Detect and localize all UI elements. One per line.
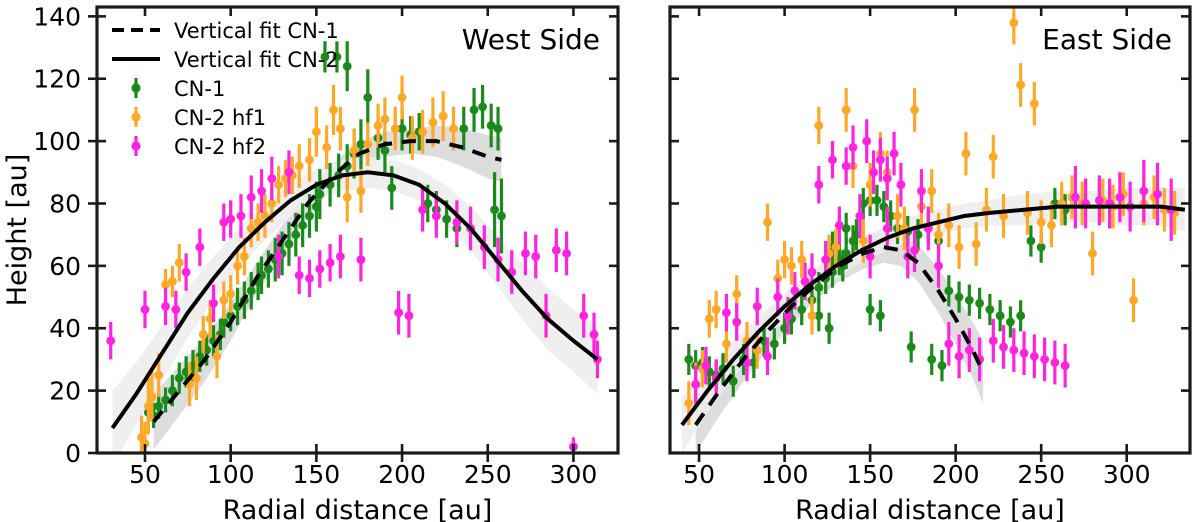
data-point <box>890 149 899 158</box>
data-point <box>363 93 372 102</box>
data-point <box>975 299 984 308</box>
data-point <box>590 330 599 339</box>
data-point <box>1009 346 1018 355</box>
data-point <box>161 302 170 311</box>
data-point <box>1129 296 1138 305</box>
data-point <box>910 246 919 255</box>
data-point <box>405 311 414 320</box>
y-tick-label: 0 <box>65 439 81 468</box>
data-point <box>274 180 283 189</box>
data-point <box>808 268 817 277</box>
data-point <box>1009 18 1018 27</box>
data-point <box>705 314 714 323</box>
x-tick-label: 100 <box>761 460 809 489</box>
data-point <box>1016 311 1025 320</box>
panel-title-west: West Side <box>462 23 600 56</box>
data-point <box>999 343 1008 352</box>
data-point <box>1115 193 1124 202</box>
data-point <box>387 183 396 192</box>
legend-item-vertical-fit-cn-2[interactable]: Vertical fit CN-2 <box>112 48 339 72</box>
data-point <box>897 180 906 189</box>
data-point <box>842 106 851 115</box>
data-point <box>182 268 191 277</box>
data-point <box>962 149 971 158</box>
data-point <box>267 174 276 183</box>
data-point <box>965 296 974 305</box>
legend-marker-icon <box>131 83 140 92</box>
data-point <box>702 361 711 370</box>
data-point <box>1027 237 1036 246</box>
data-point <box>295 162 304 171</box>
panel-content <box>106 41 602 465</box>
data-point <box>1037 243 1046 252</box>
data-point <box>305 212 314 221</box>
y-tick-label: 100 <box>33 127 81 156</box>
data-point <box>226 290 235 299</box>
panel-west: 50100150200250300020406080100120140Radia… <box>33 2 618 522</box>
data-point <box>274 252 283 261</box>
data-point <box>814 121 823 130</box>
data-point <box>442 215 451 224</box>
data-point <box>770 339 779 348</box>
data-point <box>927 355 936 364</box>
confidence-band-cn2 <box>112 157 597 466</box>
x-tick-label: 300 <box>550 460 598 489</box>
y-tick-label: 20 <box>49 377 81 406</box>
data-point <box>712 305 721 314</box>
data-point <box>849 143 858 152</box>
data-point <box>315 265 324 274</box>
data-point <box>381 115 390 124</box>
chart-svg: 50100150200250300020406080100120140Radia… <box>0 0 1200 522</box>
data-point <box>168 277 177 286</box>
data-point <box>257 187 266 196</box>
data-point <box>291 230 300 239</box>
data-point <box>391 124 400 133</box>
data-point <box>285 168 294 177</box>
data-point <box>876 311 885 320</box>
data-point <box>363 140 372 149</box>
data-point <box>797 305 806 314</box>
legend-item-cn-1[interactable]: CN-1 <box>131 77 225 101</box>
data-point <box>552 246 561 255</box>
data-point <box>439 112 448 121</box>
data-point <box>934 230 943 239</box>
data-point <box>763 352 772 361</box>
data-point <box>247 286 256 295</box>
data-point <box>1040 355 1049 364</box>
data-point <box>432 212 441 221</box>
panel-title-east: East Side <box>1042 23 1172 56</box>
data-point <box>955 293 964 302</box>
legend-label: Vertical fit CN-1 <box>174 19 339 43</box>
data-point <box>1071 193 1080 202</box>
data-point <box>531 252 540 261</box>
data-point <box>859 237 868 246</box>
x-tick-label: 100 <box>207 460 255 489</box>
data-point <box>985 305 994 314</box>
data-point <box>934 261 943 270</box>
y-tick-label: 140 <box>33 2 81 31</box>
data-point <box>814 180 823 189</box>
data-point <box>418 127 427 136</box>
data-point <box>305 155 314 164</box>
data-point <box>938 361 947 370</box>
data-point <box>1050 358 1059 367</box>
data-point <box>398 93 407 102</box>
panel-content <box>682 1 1185 453</box>
data-point <box>418 205 427 214</box>
data-point <box>305 274 314 283</box>
data-point <box>722 308 731 317</box>
data-point <box>869 168 878 177</box>
data-point <box>329 106 338 115</box>
x-tick-label: 200 <box>378 460 426 489</box>
legend-label: Vertical fit CN-2 <box>174 48 339 72</box>
data-point <box>470 106 479 115</box>
data-point <box>213 352 222 361</box>
x-tick-label: 300 <box>1103 460 1151 489</box>
legend-marker-icon <box>131 112 140 121</box>
data-point <box>866 305 875 314</box>
data-point <box>175 258 184 267</box>
x-tick-label: 50 <box>683 460 715 489</box>
data-point <box>1047 221 1056 230</box>
data-point <box>722 339 731 348</box>
data-point <box>828 155 837 164</box>
data-point <box>154 371 163 380</box>
data-point <box>336 124 345 133</box>
data-point <box>298 221 307 230</box>
data-point <box>842 162 851 171</box>
y-axis-label: Height [au] <box>2 154 33 307</box>
data-point <box>763 218 772 227</box>
data-point <box>315 190 324 199</box>
data-point <box>240 252 249 261</box>
data-point <box>154 402 163 411</box>
data-point <box>1037 218 1046 227</box>
data-point <box>927 187 936 196</box>
data-point <box>171 305 180 314</box>
data-point <box>312 127 321 136</box>
x-axis-label: Radial distance [au] <box>795 495 1065 522</box>
data-point <box>394 308 403 317</box>
data-point <box>459 124 468 133</box>
data-point <box>1016 81 1025 90</box>
data-point <box>832 243 841 252</box>
data-point <box>1020 349 1029 358</box>
legend-item-vertical-fit-cn-1[interactable]: Vertical fit CN-1 <box>112 19 339 43</box>
data-point <box>237 212 246 221</box>
legend-item-cn-2-hf2[interactable]: CN-2 hf2 <box>131 135 266 159</box>
data-point <box>862 137 871 146</box>
data-point <box>753 302 762 311</box>
data-point <box>883 174 892 183</box>
data-point <box>343 62 352 71</box>
legend: Vertical fit CN-1Vertical fit CN-2CN-1CN… <box>112 19 339 159</box>
data-point <box>1088 249 1097 258</box>
data-point <box>449 124 458 133</box>
data-point <box>106 336 115 345</box>
data-point <box>910 106 919 115</box>
data-point <box>996 311 1005 320</box>
y-tick-label: 40 <box>49 314 81 343</box>
x-tick-label: 200 <box>932 460 980 489</box>
data-point <box>893 212 902 221</box>
data-point <box>883 224 892 233</box>
data-point <box>917 187 926 196</box>
data-point <box>233 261 242 270</box>
panel-east: 50100150200250300Radial distance [au]Eas… <box>670 1 1190 522</box>
data-point <box>732 290 741 299</box>
data-point <box>357 255 366 264</box>
data-point <box>285 240 294 249</box>
data-point <box>147 392 156 401</box>
data-point <box>209 299 218 308</box>
data-point <box>195 243 204 252</box>
legend-label: CN-2 hf1 <box>174 106 266 130</box>
data-point <box>175 374 184 383</box>
data-point <box>1061 361 1070 370</box>
y-tick-label: 120 <box>33 65 81 94</box>
data-point <box>821 255 830 264</box>
x-tick-label: 250 <box>464 460 512 489</box>
data-point <box>732 318 741 327</box>
data-point <box>343 193 352 202</box>
data-point <box>295 271 304 280</box>
data-point <box>835 221 844 230</box>
data-point <box>955 352 964 361</box>
data-point <box>226 215 235 224</box>
data-point <box>497 212 506 221</box>
data-point <box>1030 352 1039 361</box>
data-point <box>989 152 998 161</box>
data-point <box>691 380 700 389</box>
data-point <box>989 336 998 345</box>
data-point <box>490 205 499 214</box>
data-point <box>247 193 256 202</box>
x-tick-label: 150 <box>293 460 341 489</box>
data-point <box>267 199 276 208</box>
data-point <box>825 324 834 333</box>
data-point <box>873 196 882 205</box>
data-point <box>1030 99 1039 108</box>
data-point <box>579 311 588 320</box>
data-point <box>808 311 817 320</box>
legend-label: CN-1 <box>174 77 225 101</box>
data-point <box>357 187 366 196</box>
data-point <box>336 252 345 261</box>
y-tick-label: 80 <box>49 189 81 218</box>
x-tick-label: 250 <box>1017 460 1065 489</box>
y-tick-label: 60 <box>49 252 81 281</box>
data-point <box>478 102 487 111</box>
data-point <box>219 296 228 305</box>
data-point <box>326 258 335 267</box>
figure-root: 50100150200250300020406080100120140Radia… <box>0 0 1200 522</box>
x-axis-label: Radial distance [au] <box>223 495 493 522</box>
data-point <box>876 155 885 164</box>
data-point <box>322 143 331 152</box>
legend-label: CN-2 hf2 <box>174 135 266 159</box>
data-point <box>521 249 530 258</box>
data-point <box>780 255 789 264</box>
legend-item-cn-2-hf1[interactable]: CN-2 hf1 <box>131 106 266 130</box>
data-point <box>1006 318 1015 327</box>
data-point <box>1095 196 1104 205</box>
data-point <box>944 286 953 295</box>
data-point <box>494 124 503 133</box>
data-point <box>199 330 208 339</box>
data-point <box>955 243 964 252</box>
data-point <box>907 343 916 352</box>
data-point <box>814 283 823 292</box>
data-point <box>141 305 150 314</box>
data-point <box>787 261 796 270</box>
data-point <box>855 212 864 221</box>
data-point <box>429 118 438 127</box>
data-point <box>773 293 782 302</box>
data-point <box>944 339 953 348</box>
legend-marker-icon <box>131 141 140 150</box>
data-point <box>684 355 693 364</box>
data-point <box>684 399 693 408</box>
data-point <box>562 249 571 258</box>
data-point <box>374 121 383 130</box>
data-point <box>972 240 981 249</box>
x-tick-label: 50 <box>129 460 161 489</box>
x-tick-label: 150 <box>846 460 894 489</box>
data-point <box>1139 187 1148 196</box>
data-point <box>797 255 806 264</box>
data-point <box>1153 190 1162 199</box>
